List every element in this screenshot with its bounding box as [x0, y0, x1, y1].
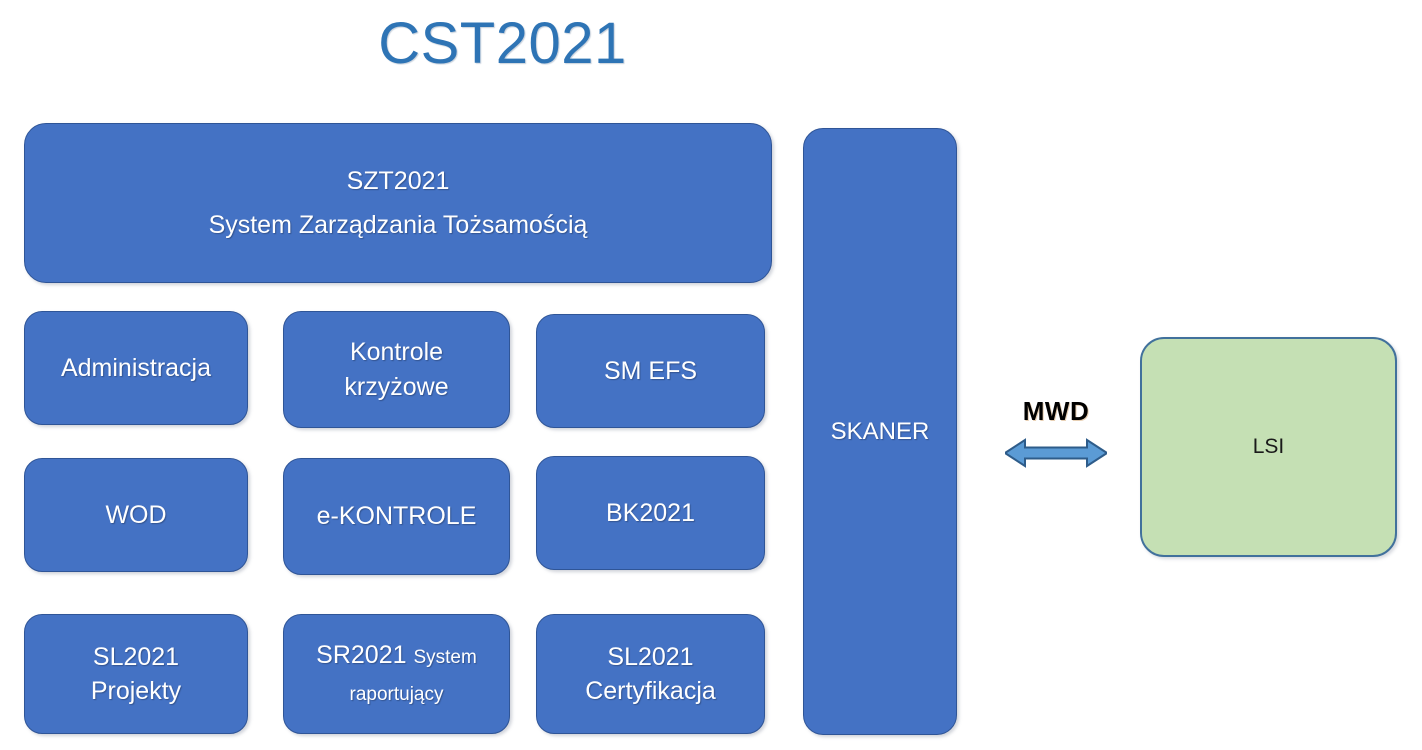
node-administracja[interactable]: Administracja: [24, 311, 248, 425]
node-e-kontrole[interactable]: e-KONTROLE: [283, 458, 510, 575]
node-skaner[interactable]: SKANER: [803, 128, 957, 735]
node-skaner-label: SKANER: [814, 418, 946, 446]
page-title: CST2021: [0, 14, 1005, 75]
node-sl2021-projekty[interactable]: SL2021 Projekty: [24, 614, 248, 734]
node-lsi[interactable]: LSI: [1140, 337, 1397, 557]
node-sl2021-projekty-label: SL2021 Projekty: [35, 640, 237, 709]
node-sl2021-certyfikacja[interactable]: SL2021 Certyfikacja: [536, 614, 765, 734]
node-szt2021-line-2: System Zarządzania Tożsamością: [209, 210, 588, 240]
node-szt2021-line-1: SZT2021: [347, 166, 450, 196]
node-sl2021-certyfikacja-label: SL2021 Certyfikacja: [547, 640, 754, 709]
node-administracja-label: Administracja: [35, 351, 237, 386]
connector-mwd-label: MWD: [1000, 396, 1112, 427]
node-kontrole-krzyzowe[interactable]: Kontrole krzyżowe: [283, 311, 510, 428]
node-sr2021-label-secondary-2: raportujący: [350, 684, 444, 705]
node-bk2021[interactable]: BK2021: [536, 456, 765, 570]
node-sm-efs[interactable]: SM EFS: [536, 314, 765, 428]
cst2021-architecture-diagram: CST2021 SZT2021 System Zarządzania Tożsa…: [0, 0, 1422, 750]
node-bk2021-label: BK2021: [547, 496, 754, 531]
node-lsi-label: LSI: [1253, 435, 1285, 459]
node-szt2021[interactable]: SZT2021 System Zarządzania Tożsamością: [24, 123, 772, 283]
node-sr2021[interactable]: SR2021 Systemraportujący: [283, 614, 510, 734]
node-sr2021-label-secondary-1: System: [413, 647, 476, 668]
node-wod[interactable]: WOD: [24, 458, 248, 572]
node-sm-efs-label: SM EFS: [547, 354, 754, 389]
node-kontrole-krzyzowe-label: Kontrole krzyżowe: [294, 335, 499, 404]
node-sr2021-label-main: SR2021: [316, 641, 406, 669]
connector-mwd: MWD: [1000, 396, 1112, 474]
node-wod-label: WOD: [35, 498, 237, 533]
double-headed-arrow-icon: [1005, 436, 1107, 470]
node-sr2021-label: SR2021 Systemraportujący: [294, 637, 499, 712]
node-e-kontrole-label: e-KONTROLE: [294, 499, 499, 534]
